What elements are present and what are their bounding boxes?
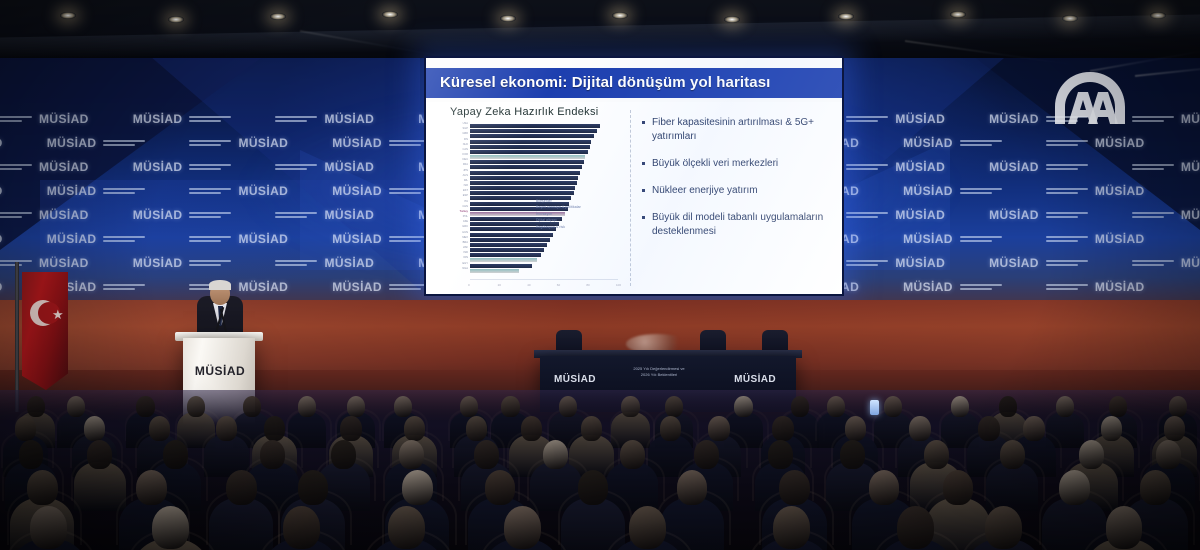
chart-bar-row: EGY [470, 264, 618, 268]
audience-person-head [466, 416, 487, 441]
wall-logo-mark: MÜSİAD [332, 232, 382, 246]
audience-person-head [620, 440, 645, 469]
wall-tagline [1046, 188, 1088, 194]
wall-tagline [103, 140, 145, 146]
wall-logo-mark: MÜSİAD [39, 160, 89, 174]
chart-bar [470, 171, 580, 175]
aa-logo-icon [1042, 62, 1138, 146]
chart-bar [470, 140, 591, 144]
wall-tagline [275, 212, 317, 218]
audience-person-head [694, 440, 719, 469]
wall-tagline [189, 260, 231, 266]
musiad-wall-logo: MÜSİAD [1132, 208, 1200, 222]
chart-bar-row: IDN [470, 258, 618, 262]
audience-person-head [30, 506, 67, 549]
musiad-wall-logo: MÜSİAD [0, 208, 89, 222]
musiad-wall-logo: MÜSİAD [47, 136, 146, 150]
chart-bar-row: MEX [470, 238, 618, 242]
audience-person-head [1164, 416, 1185, 441]
chart-category-label: USA [463, 122, 468, 125]
audience-person-head [845, 416, 866, 441]
audience-person-head [485, 470, 516, 505]
musiad-wall-logo: MÜSİAD [903, 280, 1002, 294]
musiad-wall-logo: MÜSİAD [0, 160, 89, 174]
wall-tagline [846, 212, 888, 218]
audience-person-head [999, 396, 1017, 417]
chart-bar-row: JPN [470, 171, 618, 175]
audience-person-head [27, 396, 45, 417]
audience-person-head [402, 470, 433, 505]
musiad-wall-logo: MÜSİAD [189, 136, 288, 150]
wall-tagline [275, 164, 317, 170]
chart-legend-entry: Regülasyon & risk [536, 224, 581, 230]
wall-logo-mark: MÜSİAD [1181, 256, 1200, 270]
chart-x-tick: 40 [527, 283, 530, 287]
audience-person-head [283, 506, 320, 549]
bullet-text: Büyük dil modeli tabanlı uygulamaların d… [652, 211, 828, 239]
ceiling [0, 0, 1200, 58]
musiad-wall-logo: MÜSİAD [0, 256, 89, 270]
audience-person-head [677, 470, 708, 505]
wall-logo-mark: MÜSİAD [895, 208, 945, 222]
musiad-wall-logo: MÜSİAD [133, 160, 232, 174]
wall-logo-mark: MÜSİAD [238, 184, 288, 198]
musiad-wall-logo: MÜSİAD [0, 136, 3, 150]
audience-person-head [840, 440, 865, 469]
musiad-wall-logo: MÜSİAD [846, 208, 945, 222]
chart-bar-row: ISR [470, 186, 618, 190]
chart-x-tick: 60 [557, 283, 560, 287]
musiad-wall-logo: MÜSİAD [0, 112, 89, 126]
audience-person-head [708, 416, 729, 441]
chart-category-label: MEX [462, 236, 468, 239]
wall-logo-mark: MÜSİAD [324, 112, 374, 126]
chart-bar-row: BRA [470, 243, 618, 247]
chart-bar [470, 150, 588, 154]
wall-logo-mark: MÜSİAD [989, 112, 1039, 126]
wall-tagline [189, 140, 231, 146]
wall-logo-mark: MÜSİAD [895, 160, 945, 174]
table-logo-left: MÜSİAD [554, 374, 596, 385]
audience-person-head [897, 506, 934, 549]
audience-person-head [521, 416, 542, 441]
audience-person-head [394, 396, 412, 417]
chart-category-label: CZE [463, 220, 468, 223]
musiad-wall-logo: MÜSİAD [275, 112, 374, 126]
musiad-wall-logo: MÜSİAD [275, 256, 374, 270]
audience-person-head [559, 396, 577, 417]
chart-category-label: NGA [462, 267, 468, 270]
audience-person-head [543, 440, 568, 469]
musiad-wall-logo: MÜSİAD [133, 112, 232, 126]
musiad-wall-logo: MÜSİAD [1132, 112, 1200, 126]
wall-logo-mark: MÜSİAD [332, 280, 382, 294]
wall-logo-mark: MÜSİAD [39, 208, 89, 222]
chart-bar-row: DEU [470, 160, 618, 164]
chart-category-label: IRL [464, 179, 468, 182]
musiad-wall-logo: MÜSİAD [1132, 256, 1200, 270]
audience-person-head [924, 440, 949, 469]
musiad-wall-logo: MÜSİAD [1132, 160, 1200, 174]
musiad-wall-logo: MÜSİAD [47, 184, 146, 198]
ceiling-spotlight [1062, 15, 1078, 22]
wall-logo-mark: MÜSİAD [332, 136, 382, 150]
audience-person-head [15, 416, 36, 441]
audience-person-head [331, 440, 356, 469]
podium-logo: MÜSİAD [192, 364, 248, 378]
musiad-wall-logo: MÜSİAD [332, 184, 431, 198]
chart-bar [470, 248, 544, 252]
wall-logo-mark: MÜSİAD [39, 112, 89, 126]
audience-person-head [578, 470, 609, 505]
musiad-wall-logo: MÜSİAD [275, 208, 374, 222]
turkish-flag-icon: ★ [22, 272, 68, 390]
audience-person-head [404, 416, 425, 441]
wall-tagline [846, 116, 888, 122]
audience-person-head [474, 440, 499, 469]
chart-bar [470, 264, 532, 268]
wall-tagline [275, 260, 317, 266]
chart-bar-row: CAN [470, 150, 618, 154]
musiad-wall-logo: MÜSİAD [989, 160, 1088, 174]
wall-tagline [103, 236, 145, 242]
audience-person-head [399, 440, 424, 469]
audience-person-head [1023, 416, 1044, 441]
speaker-hair [209, 280, 231, 290]
musiad-wall-logo: MÜSİAD [1046, 280, 1145, 294]
audience-person-head [243, 396, 261, 417]
chart-category-label: ZAF [463, 246, 468, 249]
chart-bar [470, 129, 597, 133]
chart-category-label: CAN [463, 148, 468, 151]
audience-seating [0, 390, 1200, 550]
musiad-wall-logo: MÜSİAD [189, 184, 288, 198]
wall-logo-mark: MÜSİAD [0, 184, 3, 198]
audience-person-head [581, 416, 602, 441]
slide-bullet-item: Büyük dil modeli tabanlı uygulamaların d… [642, 211, 828, 239]
slide-bullet-item: Fiber kapasitesinin artırılması & 5G+ ya… [642, 116, 828, 144]
chart-category-label: KOR [462, 153, 468, 156]
conference-hall-scene: MÜSİADMÜSİADMÜSİADMÜSİADMÜSİADMÜSİADMÜSİ… [0, 0, 1200, 550]
chart-bar [470, 124, 600, 128]
audience-person-head [791, 396, 809, 417]
audience-person-head [504, 506, 541, 549]
audience-person-head [772, 416, 793, 441]
musiad-wall-logo: MÜSİAD [989, 208, 1088, 222]
audience-person-head [347, 396, 365, 417]
bullet-dot-icon [642, 162, 645, 165]
bullet-text: Nükleer enerjiye yatırım [652, 184, 758, 198]
audience-person-head [226, 470, 257, 505]
chart-bar-row: ZAF [470, 248, 618, 252]
audience-person-head [779, 470, 810, 505]
chart-category-label: ITA [464, 200, 468, 203]
chart-bar-row: IRL [470, 181, 618, 185]
wall-logo-mark: MÜSİAD [238, 232, 288, 246]
audience-person-head [1000, 440, 1025, 469]
chart-category-label: EGY [463, 262, 468, 265]
audience-person-head [260, 440, 285, 469]
wall-logo-mark: MÜSİAD [0, 280, 3, 294]
audience-person-head [163, 440, 188, 469]
chart-bar [470, 233, 553, 237]
audience-person-head [884, 396, 902, 417]
musiad-wall-logo: MÜSİAD [133, 208, 232, 222]
musiad-wall-logo: MÜSİAD [0, 184, 3, 198]
musiad-wall-logo: MÜSİAD [0, 280, 3, 294]
audience-person-head [629, 506, 666, 549]
audience-person-head [136, 396, 154, 417]
musiad-wall-logo: MÜSİAD [0, 232, 3, 246]
musiad-wall-logo: MÜSİAD [989, 256, 1088, 270]
chart-category-label: ESP [463, 194, 468, 197]
chart-bar-row: FIN [470, 140, 618, 144]
wall-tagline [189, 212, 231, 218]
audience-person-head [187, 396, 205, 417]
chart-category-label: IND [464, 251, 468, 254]
chart-bar-row: IND [470, 253, 618, 257]
wall-logo-mark: MÜSİAD [324, 160, 374, 174]
wall-logo-mark: MÜSİAD [133, 256, 183, 270]
musiad-wall-logo: MÜSİAD [903, 232, 1002, 246]
slide-body: Yapay Zeka Hazırlık Endeksi USASGPGBRFIN… [426, 102, 842, 294]
wall-logo-mark: MÜSİAD [324, 208, 374, 222]
chart-x-tick: 20 [498, 283, 501, 287]
audience-person-head [1169, 396, 1187, 417]
chart-bar [470, 155, 585, 159]
chart-category-label: POL [463, 215, 468, 218]
slide-bullet-item: Büyük ölçekli veri merkezleri [642, 157, 828, 171]
chart-bar-row: USA [470, 124, 618, 128]
musiad-wall-logo: MÜSİAD [133, 256, 232, 270]
musiad-wall-logo: MÜSİAD [47, 232, 146, 246]
wall-tagline [275, 116, 317, 122]
wall-tagline [0, 212, 32, 218]
audience-person-head [84, 416, 105, 441]
audience-person-shoulders [986, 462, 1038, 511]
audience-person-head [951, 396, 969, 417]
wall-tagline [960, 284, 1002, 290]
chart-category-label: JPN [463, 169, 468, 172]
chart-bar-row: NLD [470, 145, 618, 149]
audience-person-head [149, 416, 170, 441]
audience-person-head [388, 506, 425, 549]
audience-person-head [216, 416, 237, 441]
wall-logo-mark: MÜSİAD [324, 256, 374, 270]
chart-category-label: FIN [464, 138, 468, 141]
wall-logo-mark: MÜSİAD [133, 112, 183, 126]
slide-bullet-item: Nükleer enerjiye yatırım [642, 184, 828, 198]
chart-bar [470, 176, 578, 180]
wall-tagline [1132, 212, 1174, 218]
bullet-text: Fiber kapasitesinin artırılması & 5G+ ya… [652, 116, 828, 144]
audience-person-head [768, 440, 793, 469]
table-center-line2: 2026 Yılı Beklentileri [612, 372, 706, 378]
chart-category-label: CHN [462, 205, 468, 208]
ceiling-spotlight [1150, 12, 1166, 19]
audience-person-head [152, 506, 189, 549]
wall-tagline [0, 116, 32, 122]
audience-person-head [340, 416, 361, 441]
wall-logo-mark: MÜSİAD [1181, 112, 1200, 126]
wall-logo-mark: MÜSİAD [238, 136, 288, 150]
audience-person-head [501, 396, 519, 417]
musiad-wall-logo: MÜSİAD [846, 256, 945, 270]
table-logo-right: MÜSİAD [734, 374, 776, 385]
slide-title: Küresel ekonomi: Dijital dönüşüm yol har… [440, 72, 832, 94]
ceiling-spotlight [950, 11, 966, 18]
audience-person-head [19, 440, 44, 469]
wall-logo-mark: MÜSİAD [903, 232, 953, 246]
wall-tagline [189, 236, 231, 242]
audience-person-head [869, 470, 900, 505]
chart-title: Yapay Zeka Hazırlık Endeksi [450, 106, 599, 118]
chart-bar-row: EST [470, 191, 618, 195]
audience-person-head [1056, 396, 1074, 417]
chart-bar-row: GBR [470, 134, 618, 138]
audience-person-head [1109, 396, 1127, 417]
chart-bar [470, 134, 594, 138]
wall-tagline [1046, 164, 1088, 170]
bullet-dot-icon [642, 121, 645, 124]
wall-logo-mark: MÜSİAD [47, 184, 97, 198]
wall-logo-mark: MÜSİAD [39, 256, 89, 270]
chart-bar-row: SGP [470, 129, 618, 133]
audience-phone-screen [870, 400, 879, 415]
wall-logo-mark: MÜSİAD [989, 160, 1039, 174]
wall-tagline [1132, 116, 1174, 122]
chart-bar [470, 243, 547, 247]
wall-logo-mark: MÜSİAD [1095, 280, 1145, 294]
audience-person-head [87, 440, 112, 469]
bullet-text: Büyük ölçekli veri merkezleri [652, 157, 778, 171]
wall-logo-mark: MÜSİAD [989, 208, 1039, 222]
wall-tagline [846, 260, 888, 266]
chart-category-label: HUN [462, 231, 468, 234]
wall-tagline [1132, 164, 1174, 170]
chart-bar [470, 165, 582, 169]
chart-category-label: EST [463, 189, 468, 192]
audience-person-head [67, 396, 85, 417]
musiad-wall-logo: MÜSİAD [332, 232, 431, 246]
wall-logo-mark: MÜSİAD [133, 160, 183, 174]
wall-logo-mark: MÜSİAD [0, 232, 3, 246]
audience-person-head [1101, 416, 1122, 441]
audience-person-head [773, 506, 810, 549]
projection-screen: Küresel ekonomi: Dijital dönüşüm yol har… [424, 56, 844, 296]
chart-bar [470, 191, 574, 195]
ceiling-spotlight [60, 12, 76, 19]
musiad-wall-logo: MÜSİAD [846, 160, 945, 174]
chart-legend: BileşenlerBeşeri sermaye & politikalarİn… [536, 198, 581, 230]
chart-bar-row: NGA [470, 269, 618, 273]
wall-logo-mark: MÜSİAD [1181, 160, 1200, 174]
chart-category-label: NLD [463, 143, 468, 146]
wall-tagline [1046, 236, 1088, 242]
wall-logo-mark: MÜSİAD [1095, 232, 1145, 246]
audience-person-head [943, 470, 974, 505]
wall-tagline [960, 188, 1002, 194]
chart-category-label: DEU [463, 158, 468, 161]
star-shape: ★ [52, 308, 64, 321]
chart-category-label: GRC [462, 225, 468, 228]
ai-readiness-bar-chart: USASGPGBRFINNLDCANKORDEUFRAJPNAUSIRLISRE… [442, 124, 620, 282]
chart-x-tick: 100 [616, 283, 621, 287]
chart-category-label: Turkey [460, 210, 468, 213]
chart-x-tick: 0 [468, 283, 470, 287]
wall-tagline [189, 188, 231, 194]
audience-person-head [1106, 506, 1143, 549]
wall-tagline [0, 164, 32, 170]
wall-logo-mark: MÜSİAD [903, 280, 953, 294]
audience-person-head [827, 396, 845, 417]
musiad-wall-logo: MÜSİAD [1046, 232, 1145, 246]
audience-person-head [985, 506, 1022, 549]
audience-person-head [734, 396, 752, 417]
wall-tagline [103, 284, 145, 290]
wall-logo-mark: MÜSİAD [133, 208, 183, 222]
chart-x-tick: 80 [586, 283, 589, 287]
chart-legend-entry: Beşeri sermaye & politikalar [536, 204, 581, 210]
ceiling-spotlight [838, 13, 854, 20]
chart-bar-row: KOR [470, 155, 618, 159]
wall-logo-mark: MÜSİAD [47, 136, 97, 150]
musiad-wall-logo: MÜSİAD [189, 280, 288, 294]
wall-logo-mark: MÜSİAD [0, 136, 3, 150]
wall-logo-mark: MÜSİAD [989, 256, 1039, 270]
audience-person-head [27, 470, 58, 505]
wall-logo-mark: MÜSİAD [238, 280, 288, 294]
chart-category-label: IDN [464, 256, 468, 259]
chart-bar [470, 145, 590, 149]
chart-category-label: AUS [463, 174, 468, 177]
wall-logo-mark: MÜSİAD [47, 232, 97, 246]
chart-bar-row: HUN [470, 233, 618, 237]
audience-person-head [660, 416, 681, 441]
musiad-wall-logo: MÜSİAD [332, 136, 431, 150]
presentation-slide: Küresel ekonomi: Dijital dönüşüm yol har… [426, 58, 842, 294]
audience-person-head [909, 416, 930, 441]
chart-category-label: GBR [462, 132, 468, 135]
wall-tagline [1046, 284, 1088, 290]
wall-logo-mark: MÜSİAD [903, 136, 953, 150]
wall-logo-mark: MÜSİAD [332, 184, 382, 198]
wall-tagline [189, 116, 231, 122]
chart-category-label: BRA [463, 241, 468, 244]
ceiling-spotlight [270, 13, 286, 20]
chart-bar [470, 186, 575, 190]
slide-divider [630, 110, 631, 286]
wall-logo-mark: MÜSİAD [1095, 184, 1145, 198]
audience-person-head [621, 396, 639, 417]
audience-person-head [1059, 470, 1090, 505]
wall-tagline [960, 236, 1002, 242]
audience-person-head [1140, 470, 1171, 505]
chart-category-label: ISR [464, 184, 468, 187]
audience-person-head [1156, 440, 1181, 469]
ceiling-spotlight [612, 12, 628, 19]
chart-category-label: FRA [463, 163, 468, 166]
chart-bar-row: FRA [470, 165, 618, 169]
wall-tagline [1046, 212, 1088, 218]
musiad-wall-logo: MÜSİAD [846, 112, 945, 126]
musiad-wall-logo: MÜSİAD [189, 232, 288, 246]
chart-bar [470, 269, 519, 273]
chart-bar-row: AUS [470, 176, 618, 180]
audience-person-head [978, 416, 999, 441]
chart-bar [470, 238, 550, 242]
musiad-wall-logo: MÜSİAD [332, 280, 431, 294]
